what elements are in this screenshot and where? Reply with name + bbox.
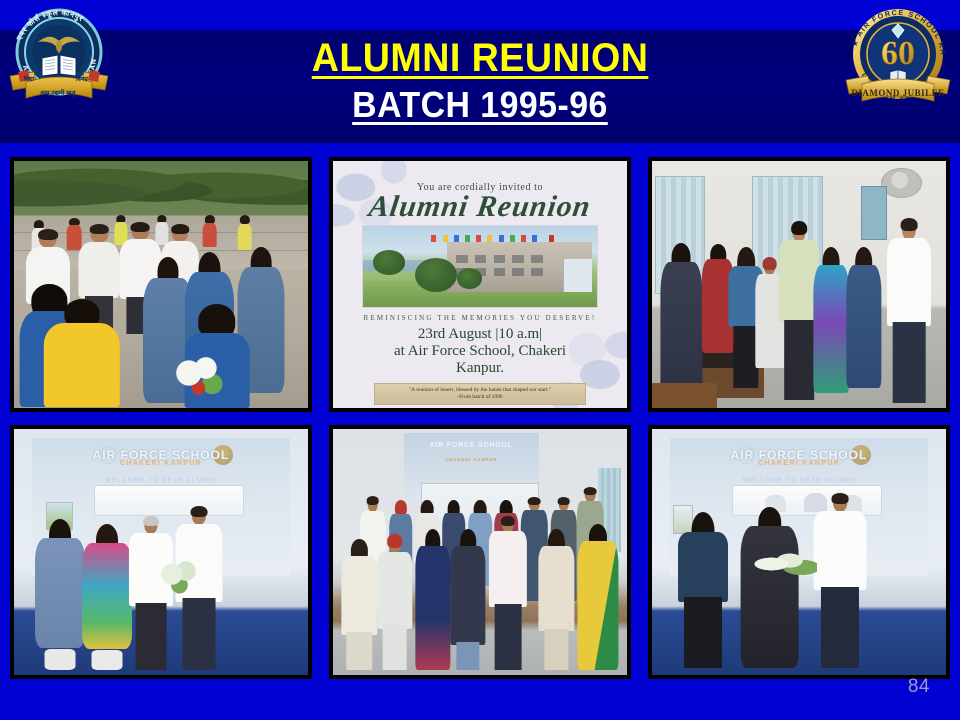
school-crest-logo: एयर फोर्स स्कूल कानपुर AIR FORCE SCHOOL … [4, 2, 114, 106]
svg-text:विद्या: विद्या [23, 75, 35, 83]
photo-invitation-card[interactable]: You are cordially invited to Alumni Reun… [329, 157, 631, 412]
photo-bouquet-presentation-left[interactable]: AIR FORCE SCHOOL CHAKERI KANPUR WELCOME … [10, 425, 312, 680]
projected-welcome-line1: WELCOME TO DEAR ALUMNI [743, 477, 855, 484]
photo-content: AIR FORCE SCHOOL CHAKERI KANPUR WELCOME … [652, 429, 946, 676]
presentation-slide: ALUMNI REUNION BATCH 1995-96 एयर फोर्स स… [0, 0, 960, 720]
projected-subtitle: CHAKERI KANPUR [32, 460, 291, 467]
invitation-school-photo [362, 225, 597, 309]
page-subtitle: BATCH 1995-96 [352, 84, 608, 126]
photo-content [652, 161, 946, 408]
invitation-details: 23rd August |10 a.m| at Air Force School… [394, 326, 566, 377]
photo-content: AIR FORCE SCHOOL CHAKERI KANPUR [333, 429, 627, 676]
projected-subtitle: CHAKERI KANPUR [670, 460, 929, 467]
invitation-card: You are cordially invited to Alumni Reun… [333, 161, 627, 408]
photo-content: You are cordially invited to Alumni Reun… [333, 161, 627, 408]
photo-office-gathering[interactable] [648, 157, 950, 412]
svg-text:अस् उद्यमी ऋतु: अस् उद्यमी ऋतु [40, 89, 76, 97]
photo-bouquet-presentation-right[interactable]: AIR FORCE SCHOOL CHAKERI KANPUR WELCOME … [648, 425, 950, 680]
invitation-script-title: Alumni Reunion [367, 192, 593, 222]
photo-group-photograph[interactable]: AIR FORCE SCHOOL CHAKERI KANPUR [329, 425, 631, 680]
header-bottom-strip [0, 143, 960, 155]
page-title: ALUMNI REUNION [312, 36, 649, 80]
projected-subtitle: CHAKERI KANPUR [404, 457, 539, 462]
photo-welcome-outdoors[interactable] [10, 157, 312, 412]
svg-text:विनम्र: विनम्र [75, 75, 88, 83]
photo-content [14, 161, 308, 408]
invitation-quote-attribution: -From batch of 1996 [377, 394, 583, 401]
svg-text:60: 60 [881, 35, 915, 72]
photo-grid: You are cordially invited to Alumni Reun… [10, 157, 950, 679]
invitation-venue-line1: at Air Force School, Chakeri [394, 343, 566, 359]
projected-title: AIR FORCE SCHOOL [404, 442, 539, 449]
header-top-strip [0, 0, 960, 30]
invitation-tagline: REMINISCING THE MEMORIES YOU DESERVE! [364, 314, 597, 322]
svg-text:DIAMOND JUBILEE: DIAMOND JUBILEE [851, 88, 944, 98]
title-block: ALUMNI REUNION BATCH 1995-96 [0, 30, 960, 143]
invitation-venue-line2: Kanpur. [456, 360, 504, 376]
invitation-quote-box: "A reunion of hearts, blessed by the han… [374, 383, 586, 405]
diamond-jubilee-logo: ★ AIR FORCE SCHOOL KANPUR ★ 60 1963-2023… [842, 2, 954, 108]
invitation-date-time: 23rd August |10 a.m| [418, 326, 542, 342]
page-number: 84 [908, 676, 930, 698]
photo-content: AIR FORCE SCHOOL CHAKERI KANPUR WELCOME … [14, 429, 308, 676]
projected-welcome-line1: WELCOME TO DEAR ALUMNI [105, 477, 217, 484]
